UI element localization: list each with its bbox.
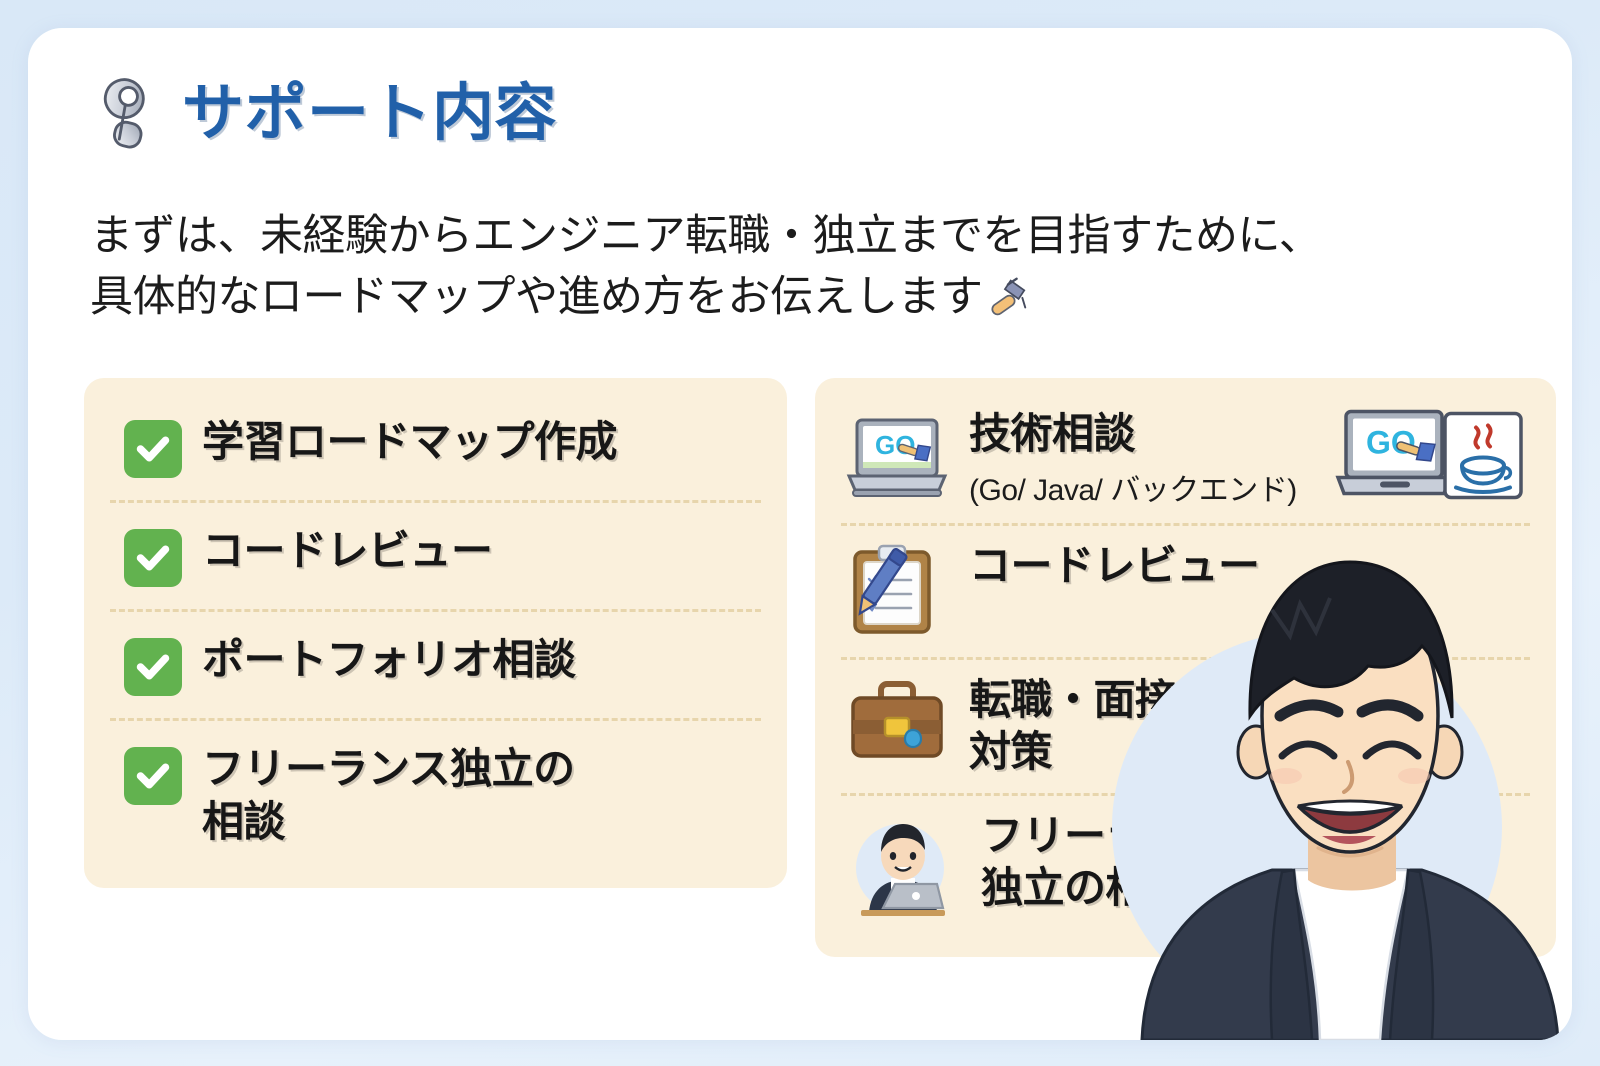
feature-cards: 学習ロードマップ作成 コードレビュー — [84, 378, 1556, 957]
list-item-text-block: 技術相談 (Go/ Java/ バックエンド) — [969, 408, 1297, 509]
list-item-label: コードレビュー — [202, 525, 493, 578]
list-item[interactable]: コードレビュー — [841, 523, 1530, 657]
briefcase-icon — [845, 676, 949, 771]
list-item-sublabel: (Go/ Java/ バックエンド) — [969, 465, 1297, 509]
hammer-icon — [985, 273, 1031, 319]
list-item[interactable]: 学習ロードマップ作成 — [110, 394, 761, 500]
person-laptop-icon — [845, 812, 961, 925]
check-icon — [124, 420, 182, 478]
list-item[interactable]: 転職・面接 対策 — [841, 657, 1530, 793]
list-item[interactable]: GO 技術相談 (Go/ Java/ バックエンド) — [841, 394, 1530, 523]
lead-line-2-wrap: 具体的なロードマップや進め方をお伝えします — [90, 267, 1390, 328]
left-feature-card: 学習ロードマップ作成 コードレビュー — [84, 378, 787, 888]
java-coffee-icon — [1442, 408, 1524, 509]
list-item-label: フリーランス 独立の相談 — [981, 810, 1229, 915]
page-header: サポート内容 — [84, 76, 557, 152]
clipboard-pen-icon — [845, 542, 949, 643]
svg-text:GO: GO — [875, 430, 915, 460]
list-item-label: 学習ロードマップ作成 — [202, 416, 617, 469]
svg-text:GO: GO — [1366, 425, 1416, 461]
slide-root: サポート内容 まずは、未経験からエンジニア転職・独立までを目指すために、 具体的… — [0, 0, 1600, 1066]
laptop-go-icon: GO — [845, 412, 949, 507]
list-item[interactable]: ポートフォリオ相談 — [110, 609, 761, 718]
list-item-label: 技術相談 — [969, 410, 1135, 457]
check-icon — [124, 747, 182, 805]
check-icon — [124, 638, 182, 696]
list-item-label: フリーランス独立の 相談 — [202, 743, 575, 848]
wrench-icon — [84, 76, 160, 152]
lead-line-1: まずは、未経験からエンジニア転職・独立までを目指すために、 — [90, 206, 1390, 267]
content-panel: サポート内容 まずは、未経験からエンジニア転職・独立までを目指すために、 具体的… — [28, 28, 1572, 1040]
tech-trailing-icons: GO — [1332, 406, 1524, 511]
list-item-label: ポートフォリオ相談 — [202, 634, 576, 687]
list-item-label: 転職・面接 対策 — [969, 674, 1177, 779]
laptop-go-icon: GO — [1332, 406, 1456, 511]
right-feature-card: GO 技術相談 (Go/ Java/ バックエンド) — [815, 378, 1556, 957]
lead-paragraph: まずは、未経験からエンジニア転職・独立までを目指すために、 具体的なロードマップ… — [90, 206, 1390, 328]
list-item[interactable]: フリーランス独立の 相談 — [110, 718, 761, 870]
page-title: サポート内容 — [182, 83, 557, 145]
check-icon — [124, 529, 182, 587]
lead-line-2: 具体的なロードマップや進め方をお伝えします — [90, 273, 983, 321]
list-item-label: コードレビュー — [969, 540, 1260, 593]
list-item[interactable]: フリーランス 独立の相談 — [841, 793, 1530, 939]
list-item[interactable]: コードレビュー — [110, 500, 761, 609]
